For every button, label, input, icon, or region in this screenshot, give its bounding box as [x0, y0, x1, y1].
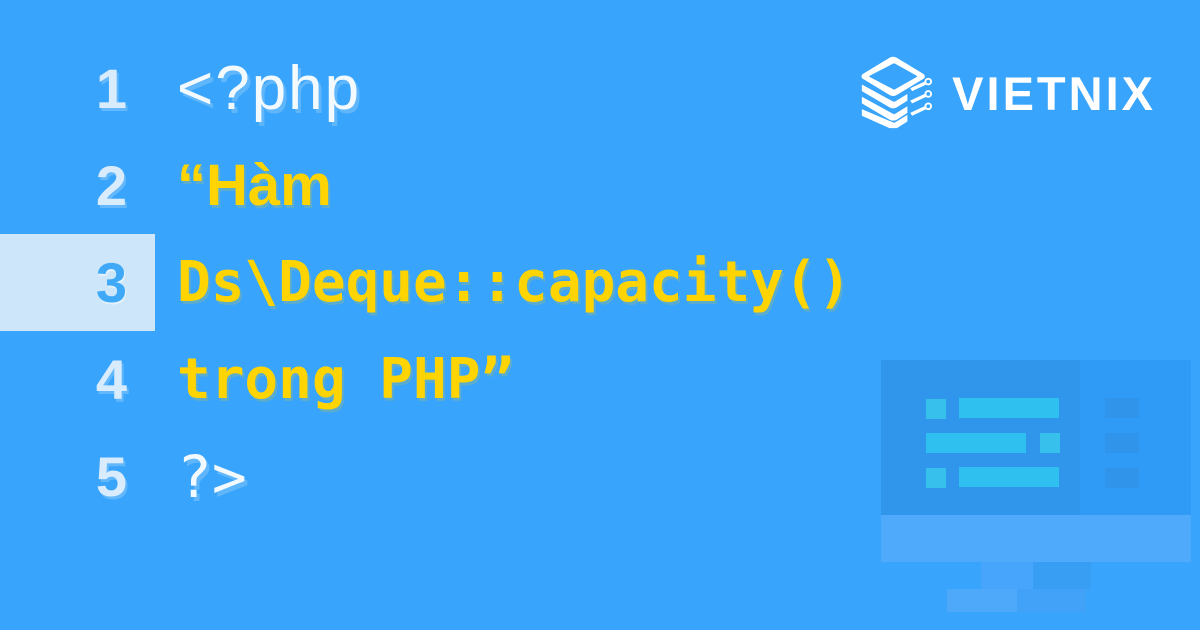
- brand-wordmark: VIETNIX: [952, 70, 1156, 117]
- code-line-text-5: ?>: [155, 448, 860, 506]
- monitor-stand-neck: [981, 562, 1033, 589]
- line-number-1: 1: [0, 61, 155, 117]
- code-line-3-active: 3 Ds\Deque::capacity(): [0, 234, 860, 331]
- monitor-stand-foot-shade: [1017, 589, 1086, 612]
- code-line-5: 5 ?>: [0, 428, 860, 525]
- code-line-4: 4 trong PHP”: [0, 331, 860, 428]
- screen-block-bar-3: [959, 467, 1059, 487]
- code-line-1: 1 <?php: [0, 40, 860, 137]
- screen-block-bar-1: [959, 398, 1059, 418]
- sidebar-block-3: [1105, 468, 1139, 488]
- desktop-monitor-illustration: [881, 360, 1200, 592]
- stacked-layers-icon: [858, 56, 934, 130]
- code-line-text-2: “Hàm: [155, 157, 860, 215]
- sidebar-block-2: [1105, 433, 1139, 453]
- line-number-3: 3: [0, 255, 155, 311]
- line-number-2: 2: [0, 158, 155, 214]
- monitor-stand-neck-shade: [1033, 562, 1091, 589]
- code-block: 1 <?php 2 “Hàm 3 Ds\Deque::capacity() 4 …: [0, 40, 860, 525]
- poster-canvas: VIETNIX 1 <?php 2 “Hàm 3 Ds\Deque::capac…: [0, 0, 1200, 630]
- screen-block-square-3: [926, 468, 946, 488]
- brand-logo: VIETNIX: [858, 56, 1156, 130]
- code-line-text-1: <?php: [155, 58, 860, 120]
- code-line-2: 2 “Hàm: [0, 137, 860, 234]
- sidebar-block-1: [1105, 398, 1139, 418]
- line-number-4: 4: [0, 352, 155, 408]
- line-number-5: 5: [0, 449, 155, 505]
- code-line-text-4: trong PHP”: [155, 352, 860, 408]
- code-line-text-3: Ds\Deque::capacity(): [155, 255, 860, 311]
- screen-block-square-1: [926, 399, 946, 419]
- monitor-bezel-bottom: [881, 515, 1191, 562]
- screen-block-bar-2: [926, 433, 1026, 453]
- screen-block-square-2: [1040, 433, 1060, 453]
